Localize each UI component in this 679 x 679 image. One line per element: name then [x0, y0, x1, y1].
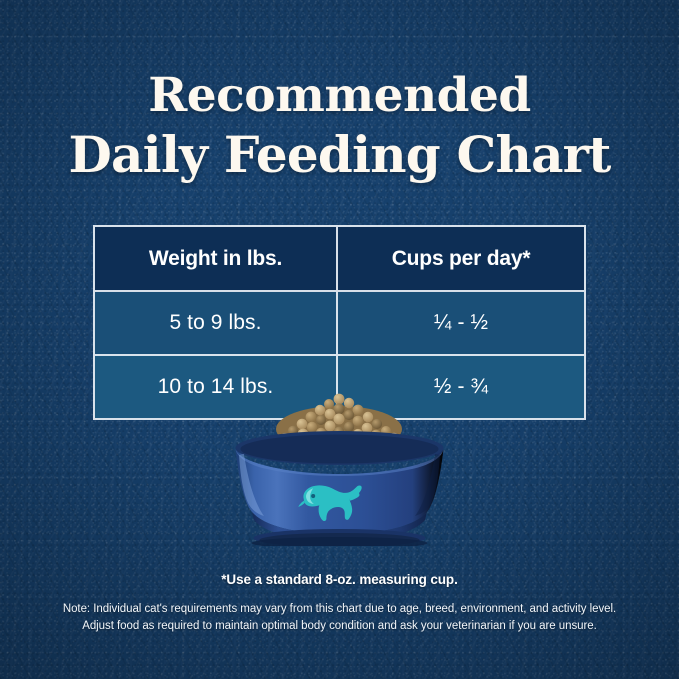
- note-line-1: Note: Individual cat's requirements may …: [0, 601, 679, 618]
- dog-food-bowl-illustration: [222, 386, 457, 546]
- bowl-svg: [222, 386, 457, 546]
- column-header-weight: Weight in lbs.: [95, 227, 338, 292]
- note-line-2: Adjust food as required to maintain opti…: [0, 618, 679, 635]
- disclaimer-note: Note: Individual cat's requirements may …: [0, 601, 679, 635]
- cell-weight-range: 5 to 9 lbs.: [95, 292, 338, 356]
- page-title: Recommended Daily Feeding Chart: [0, 72, 679, 180]
- table-header: Weight in lbs. Cups per day*: [95, 227, 584, 292]
- table-header-row: Weight in lbs. Cups per day*: [95, 227, 584, 292]
- cell-cups-amount: ¼ - ½: [338, 292, 584, 356]
- title-line-1: Recommended: [0, 72, 679, 119]
- title-line-2: Daily Feeding Chart: [0, 130, 679, 180]
- feeding-chart-page: Recommended Daily Feeding Chart Weight i…: [0, 0, 679, 679]
- table-row: 5 to 9 lbs. ¼ - ½: [95, 292, 584, 356]
- measuring-cup-footnote: *Use a standard 8-oz. measuring cup.: [0, 572, 679, 587]
- column-header-cups: Cups per day*: [338, 227, 584, 292]
